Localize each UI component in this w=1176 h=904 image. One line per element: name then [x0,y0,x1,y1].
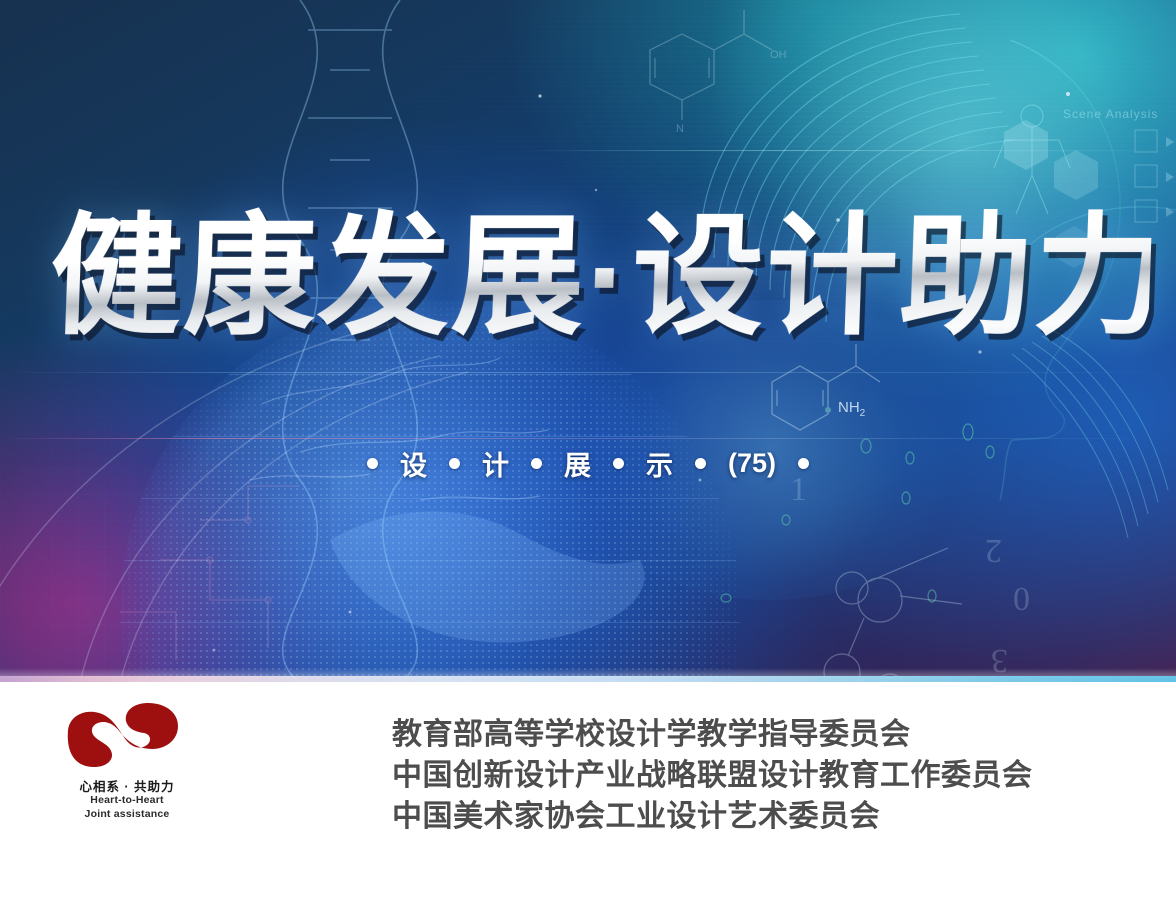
organization-line-1: 教育部高等学校设计学教学指导委员会 [392,714,1132,755]
subtitle-word-0: 设 [400,444,427,483]
banner-hero: Scene Analysis N OH NH2 [0,0,1176,682]
poster-banner-page: Scene Analysis N OH NH2 [0,0,1176,904]
banner-title: 健康发展·设计助力 [47,192,1153,362]
bullet-icon-0 [367,458,378,469]
molecule-network [824,548,962,682]
nh2-label: NH2 [838,399,866,419]
ghost-numerals: 2 0 3 1 [790,471,1030,679]
logo-slogan-cn: 心相系 · 共助力 [62,776,192,795]
organization-line-2: 中国创新设计产业战略联盟设计教育工作委员会 [392,755,1132,796]
svg-text:0: 0 [1013,580,1030,617]
scene-analysis-label: Scene Analysis [1063,107,1158,121]
subtitle-word-2: 展 [564,444,591,483]
logo-slogan-en-line2: Joint assistance [62,808,192,820]
footer-bar: 心相系 · 共助力 Heart-to-Heart Joint assistanc… [0,682,1176,904]
organization-line-3: 中国美术家协会工业设计艺术委员会 [392,796,1132,837]
heart-to-heart-logo-icon [62,702,182,768]
logo-slogan-en-line1: Heart-to-Heart [62,794,192,806]
banner-subtitle: 设 计 展 示 (75) [0,438,1176,488]
bullet-icon-2 [531,458,542,469]
bullet-icon-5 [798,458,809,469]
svg-text:2: 2 [985,532,1002,569]
svg-text:N: N [676,123,684,135]
chemical-structure-top: N OH [650,10,787,135]
bullet-icon-3 [613,458,624,469]
bullet-icon-1 [449,458,460,469]
circuit-traces [120,486,300,660]
organization-logo: 心相系 · 共助力 Heart-to-Heart Joint assistanc… [62,702,222,852]
subtitle-issue-number: (75) [728,448,776,479]
svg-text:OH: OH [770,49,787,61]
bullet-icon-4 [695,458,706,469]
subtitle-word-1: 计 [482,444,509,483]
subtitle-word-3: 示 [646,444,673,483]
organization-list: 教育部高等学校设计学教学指导委员会 中国创新设计产业战略联盟设计教育工作委员会 … [392,714,1132,837]
